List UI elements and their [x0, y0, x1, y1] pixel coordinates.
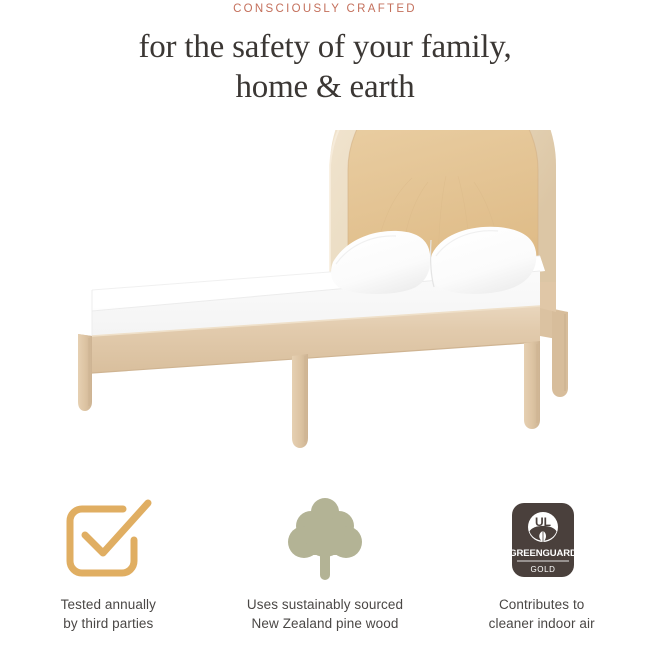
- ul-text: UL: [535, 515, 551, 529]
- ul-mark: UL: [528, 512, 558, 542]
- feature-list: Tested annually by third parties: [0, 495, 650, 650]
- bed-illustration: [0, 130, 650, 470]
- caption-line-1: Tested annually: [61, 595, 156, 614]
- headline-line-1: for the safety of your family,: [138, 29, 511, 65]
- caption-line-2: by third parties: [61, 614, 156, 633]
- feature-item-tested-annually: Tested annually by third parties: [0, 495, 217, 650]
- page-title: for the safety of your family, home & ea…: [0, 27, 650, 107]
- header: CONSCIOUSLY CRAFTED for the safety of yo…: [0, 0, 650, 107]
- badge-tier-text: GOLD: [530, 565, 555, 574]
- promo-page: CONSCIOUSLY CRAFTED for the safety of yo…: [0, 0, 650, 650]
- headline-line-2: home & earth: [0, 67, 650, 107]
- caption-line-2: New Zealand pine wood: [247, 614, 403, 633]
- feature-caption: Contributes to cleaner indoor air: [489, 595, 595, 633]
- feature-caption: Uses sustainably sourced New Zealand pin…: [247, 595, 403, 633]
- eyebrow-text: CONSCIOUSLY CRAFTED: [0, 2, 650, 16]
- tree-icon: [277, 495, 373, 587]
- checkbox-check-icon: [60, 495, 156, 587]
- caption-line-1: Contributes to: [489, 595, 595, 614]
- caption-line-1: Uses sustainably sourced: [247, 595, 403, 614]
- feature-item-sustainable-wood: Uses sustainably sourced New Zealand pin…: [217, 495, 434, 650]
- greenguard-gold-badge-icon: UL GREENGUARD GOLD: [494, 495, 590, 587]
- caption-line-2: cleaner indoor air: [489, 614, 595, 633]
- badge-title-text: GREENGUARD: [509, 548, 577, 559]
- feature-caption: Tested annually by third parties: [61, 595, 156, 633]
- feature-item-greenguard: UL GREENGUARD GOLD Contributes to cleane…: [433, 495, 650, 650]
